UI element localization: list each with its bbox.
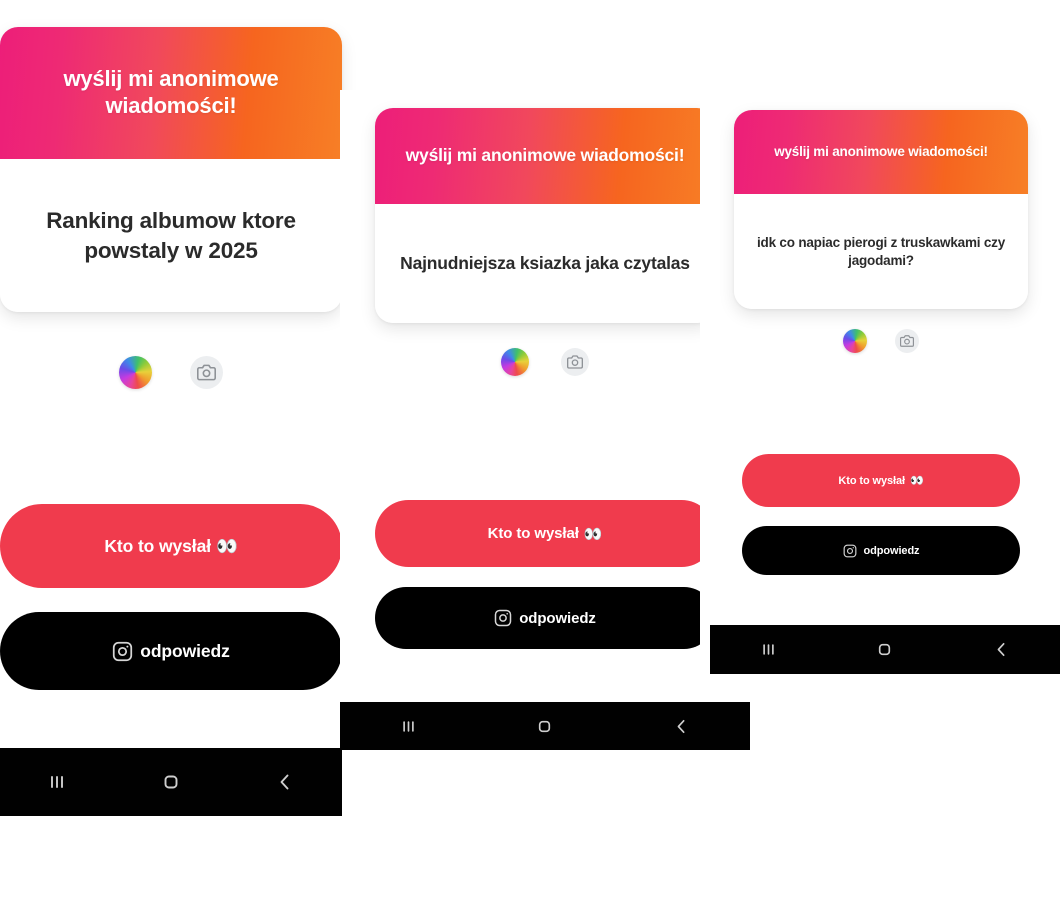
ngl-header-text: wyślij mi anonimowe wiadomości!: [774, 144, 988, 160]
recents-icon[interactable]: [398, 716, 419, 737]
instagram-reply-button[interactable]: odpowiedz: [0, 612, 342, 690]
ngl-prompt-text: Najnudniejsza ksiazka jaka czytalas: [400, 252, 690, 275]
story-screenshot-3: wyślij mi anonimowe wiadomości! idk co n…: [700, 100, 1060, 674]
instagram-reply-label: odpowiedz: [519, 610, 596, 627]
home-icon[interactable]: [159, 770, 183, 794]
who-sent-this-label: Kto to wysłał: [488, 525, 579, 542]
recents-icon[interactable]: [758, 639, 779, 660]
ngl-header-text: wyślij mi anonimowe wiadomości!: [406, 145, 685, 166]
ngl-prompt-card[interactable]: wyślij mi anonimowe wiadomości! Ranking …: [0, 27, 342, 312]
back-icon[interactable]: [671, 716, 692, 737]
instagram-reply-label: odpowiedz: [864, 545, 920, 557]
story-tool-row: [375, 342, 715, 382]
ngl-prompt-text: idk co napiac pierogi z truskawkami czy …: [752, 234, 1010, 270]
who-sent-this-button[interactable]: Kto to wysłał 👀: [742, 454, 1020, 507]
ngl-card-body: Najnudniejsza ksiazka jaka czytalas: [375, 204, 715, 323]
back-icon[interactable]: [273, 770, 297, 794]
recents-icon[interactable]: [45, 770, 69, 794]
home-icon[interactable]: [874, 639, 895, 660]
ngl-card-header: wyślij mi anonimowe wiadomości!: [734, 110, 1028, 194]
ngl-card-body: Ranking albumow ktore powstaly w 2025: [0, 159, 342, 312]
camera-icon[interactable]: [190, 356, 223, 389]
android-navbar: [0, 748, 342, 816]
eyes-emoji-icon: 👀: [910, 474, 924, 487]
who-sent-this-button[interactable]: Kto to wysłał 👀: [375, 500, 715, 567]
ngl-prompt-card[interactable]: wyślij mi anonimowe wiadomości! Najnudni…: [375, 108, 715, 323]
ngl-header-text: wyślij mi anonimowe wiadomości!: [26, 66, 316, 120]
android-navbar: [710, 625, 1060, 674]
instagram-reply-label: odpowiedz: [140, 641, 230, 662]
home-icon[interactable]: [534, 716, 555, 737]
story-tool-row: [0, 348, 342, 396]
who-sent-this-label: Kto to wysłał: [104, 536, 211, 557]
instagram-reply-button[interactable]: odpowiedz: [375, 587, 715, 649]
who-sent-this-label: Kto to wysłał: [838, 475, 905, 487]
instagram-icon: [494, 609, 512, 627]
who-sent-this-button[interactable]: Kto to wysłał 👀: [0, 504, 342, 588]
android-navbar: [340, 702, 750, 750]
ngl-card-body: idk co napiac pierogi z truskawkami czy …: [734, 194, 1028, 309]
story-tool-row: [734, 324, 1028, 358]
ngl-card-header: wyślij mi anonimowe wiadomości!: [375, 108, 715, 204]
back-icon[interactable]: [991, 639, 1012, 660]
color-wheel-icon[interactable]: [119, 356, 152, 389]
ngl-prompt-text: Ranking albumow ktore powstaly w 2025: [24, 206, 318, 265]
color-wheel-icon[interactable]: [843, 329, 867, 353]
eyes-emoji-icon: 👀: [216, 536, 238, 557]
ngl-card-header: wyślij mi anonimowe wiadomości!: [0, 27, 342, 159]
story-screenshot-1: wyślij mi anonimowe wiadomości! Ranking …: [0, 0, 342, 816]
camera-icon[interactable]: [561, 348, 589, 376]
story-screenshot-2: wyślij mi anonimowe wiadomości! Najnudni…: [340, 90, 750, 750]
eyes-emoji-icon: 👀: [584, 525, 603, 543]
ngl-prompt-card[interactable]: wyślij mi anonimowe wiadomości! idk co n…: [734, 110, 1028, 309]
instagram-icon: [843, 544, 857, 558]
instagram-icon: [112, 641, 133, 662]
instagram-reply-button[interactable]: odpowiedz: [742, 526, 1020, 575]
color-wheel-icon[interactable]: [501, 348, 529, 376]
screenshot-canvas: wyślij mi anonimowe wiadomości! Ranking …: [0, 0, 1060, 916]
camera-icon[interactable]: [895, 329, 919, 353]
